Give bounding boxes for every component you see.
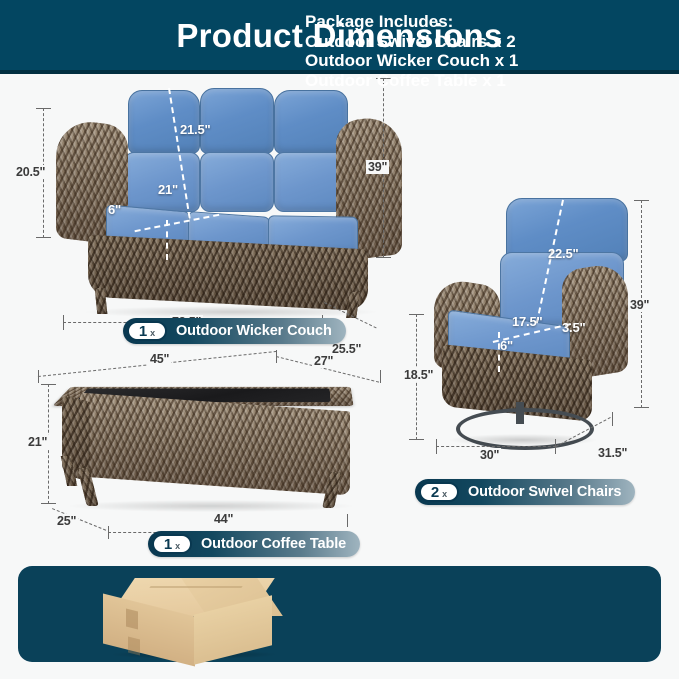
couch-base <box>88 235 368 312</box>
chair-width-tick-left <box>436 439 437 454</box>
chair-overall-depth-label: 31.5" <box>596 446 629 460</box>
couch-badge-label: Outdoor Wicker Couch <box>176 323 332 339</box>
chair-figure: 22.5" 17.5" 3.5" 6" 18.5" 39" 30" 31.5" <box>400 190 679 480</box>
couch-seat-height-tick-bottom <box>36 237 51 238</box>
coffee-table-figure: 45" 27" 21" 25" 44" <box>20 350 420 550</box>
table-front-panel <box>80 393 350 496</box>
table-top-width-tick-right <box>380 370 381 383</box>
chair-cushion-thickness-label: 6" <box>500 338 513 353</box>
couch-badge[interactable]: 1 x Outdoor Wicker Couch <box>123 318 346 344</box>
table-quantity-count: 1 <box>164 536 172 554</box>
package-item-1: Outdoor Wicker Couch x 1 <box>305 51 518 71</box>
table-top-width-label: 27" <box>312 354 335 368</box>
package-includes-text: Package Includes: Outdoor Swivel Chairs … <box>305 12 518 90</box>
box-top-seam <box>149 586 242 588</box>
package-heading: Package Includes: <box>305 12 518 32</box>
table-top-length-label: 45" <box>148 352 171 366</box>
couch-cushion-thickness-guide <box>166 220 169 260</box>
chair-swivel-post <box>516 402 524 424</box>
couch-quantity-multiplier: x <box>150 324 155 342</box>
table-base-depth-label: 25" <box>55 514 78 528</box>
table-top-width-tick-left <box>276 350 277 363</box>
chair-quantity-pill: 2 x <box>419 482 459 502</box>
package-item-2: Outdoor Coffee Table x 1 <box>305 71 518 91</box>
table-top-length-tick-left <box>38 370 39 383</box>
chair-overall-width-label: 30" <box>478 448 501 462</box>
product-dimensions-infographic: Product Dimensions 21.5" 21" 6 <box>0 0 679 679</box>
chair-width-guide <box>436 446 556 447</box>
chair-seat-height-tick-top <box>409 314 424 315</box>
couch-width-tick-left <box>63 315 64 330</box>
chair-quantity-multiplier: x <box>442 485 447 503</box>
couch-quantity-count: 1 <box>139 323 147 341</box>
chair-quantity-count: 2 <box>431 484 439 502</box>
cardboard-box-icon <box>98 578 294 656</box>
table-quantity-pill: 1 x <box>152 534 192 554</box>
couch-quantity-pill: 1 x <box>127 321 167 341</box>
chair-height-tick-bottom <box>634 407 649 408</box>
chair-back-cushion-height-label: 22.5" <box>548 246 578 261</box>
table-base-length-tick-right <box>347 514 348 527</box>
package-item-0: Outdoor Swivel Chairs x 2 <box>305 32 518 52</box>
table-base-length-tick-left <box>108 526 109 539</box>
couch-height-tick-bottom <box>376 257 391 258</box>
table-height-label: 21" <box>26 435 49 449</box>
couch-back-cushion-height-label: 21.5" <box>180 122 210 137</box>
chair-depth-tick <box>612 412 613 426</box>
table-base-length-label: 44" <box>212 512 235 526</box>
chair-badge-label: Outdoor Swivel Chairs <box>468 484 621 500</box>
chair-badge[interactable]: 2 x Outdoor Swivel Chairs <box>415 479 635 505</box>
chair-height-tick-top <box>634 200 649 201</box>
box-tape-upper <box>126 609 138 630</box>
table-height-tick-bottom <box>41 503 56 504</box>
couch-back-cushion-center <box>200 88 274 154</box>
table-badge[interactable]: 1 x Outdoor Coffee Table <box>148 531 360 557</box>
table-height-tick-top <box>41 384 56 385</box>
table-quantity-multiplier: x <box>175 537 180 555</box>
couch-cushion-thickness-label: 6" <box>108 202 121 217</box>
couch-seat-height-label: 20.5" <box>14 165 47 179</box>
couch-seat-height-tick-top <box>36 108 51 109</box>
couch-figure: 21.5" 21" 6" 20.5" 39" 72.5" 25.5" <box>0 70 410 340</box>
box-tape-lower <box>128 637 140 656</box>
chair-overall-height-label: 39" <box>628 298 651 312</box>
couch-overall-height-label: 39" <box>366 160 389 174</box>
couch-seat-depth-label: 21" <box>158 182 178 197</box>
chair-seat-depth-label: 17.5" <box>512 314 542 329</box>
table-ground-shadow <box>70 500 352 512</box>
table-badge-label: Outdoor Coffee Table <box>201 536 346 552</box>
chair-arm-width-label: 3.5" <box>562 320 585 335</box>
couch-lumbar-cushion-center <box>200 152 274 212</box>
